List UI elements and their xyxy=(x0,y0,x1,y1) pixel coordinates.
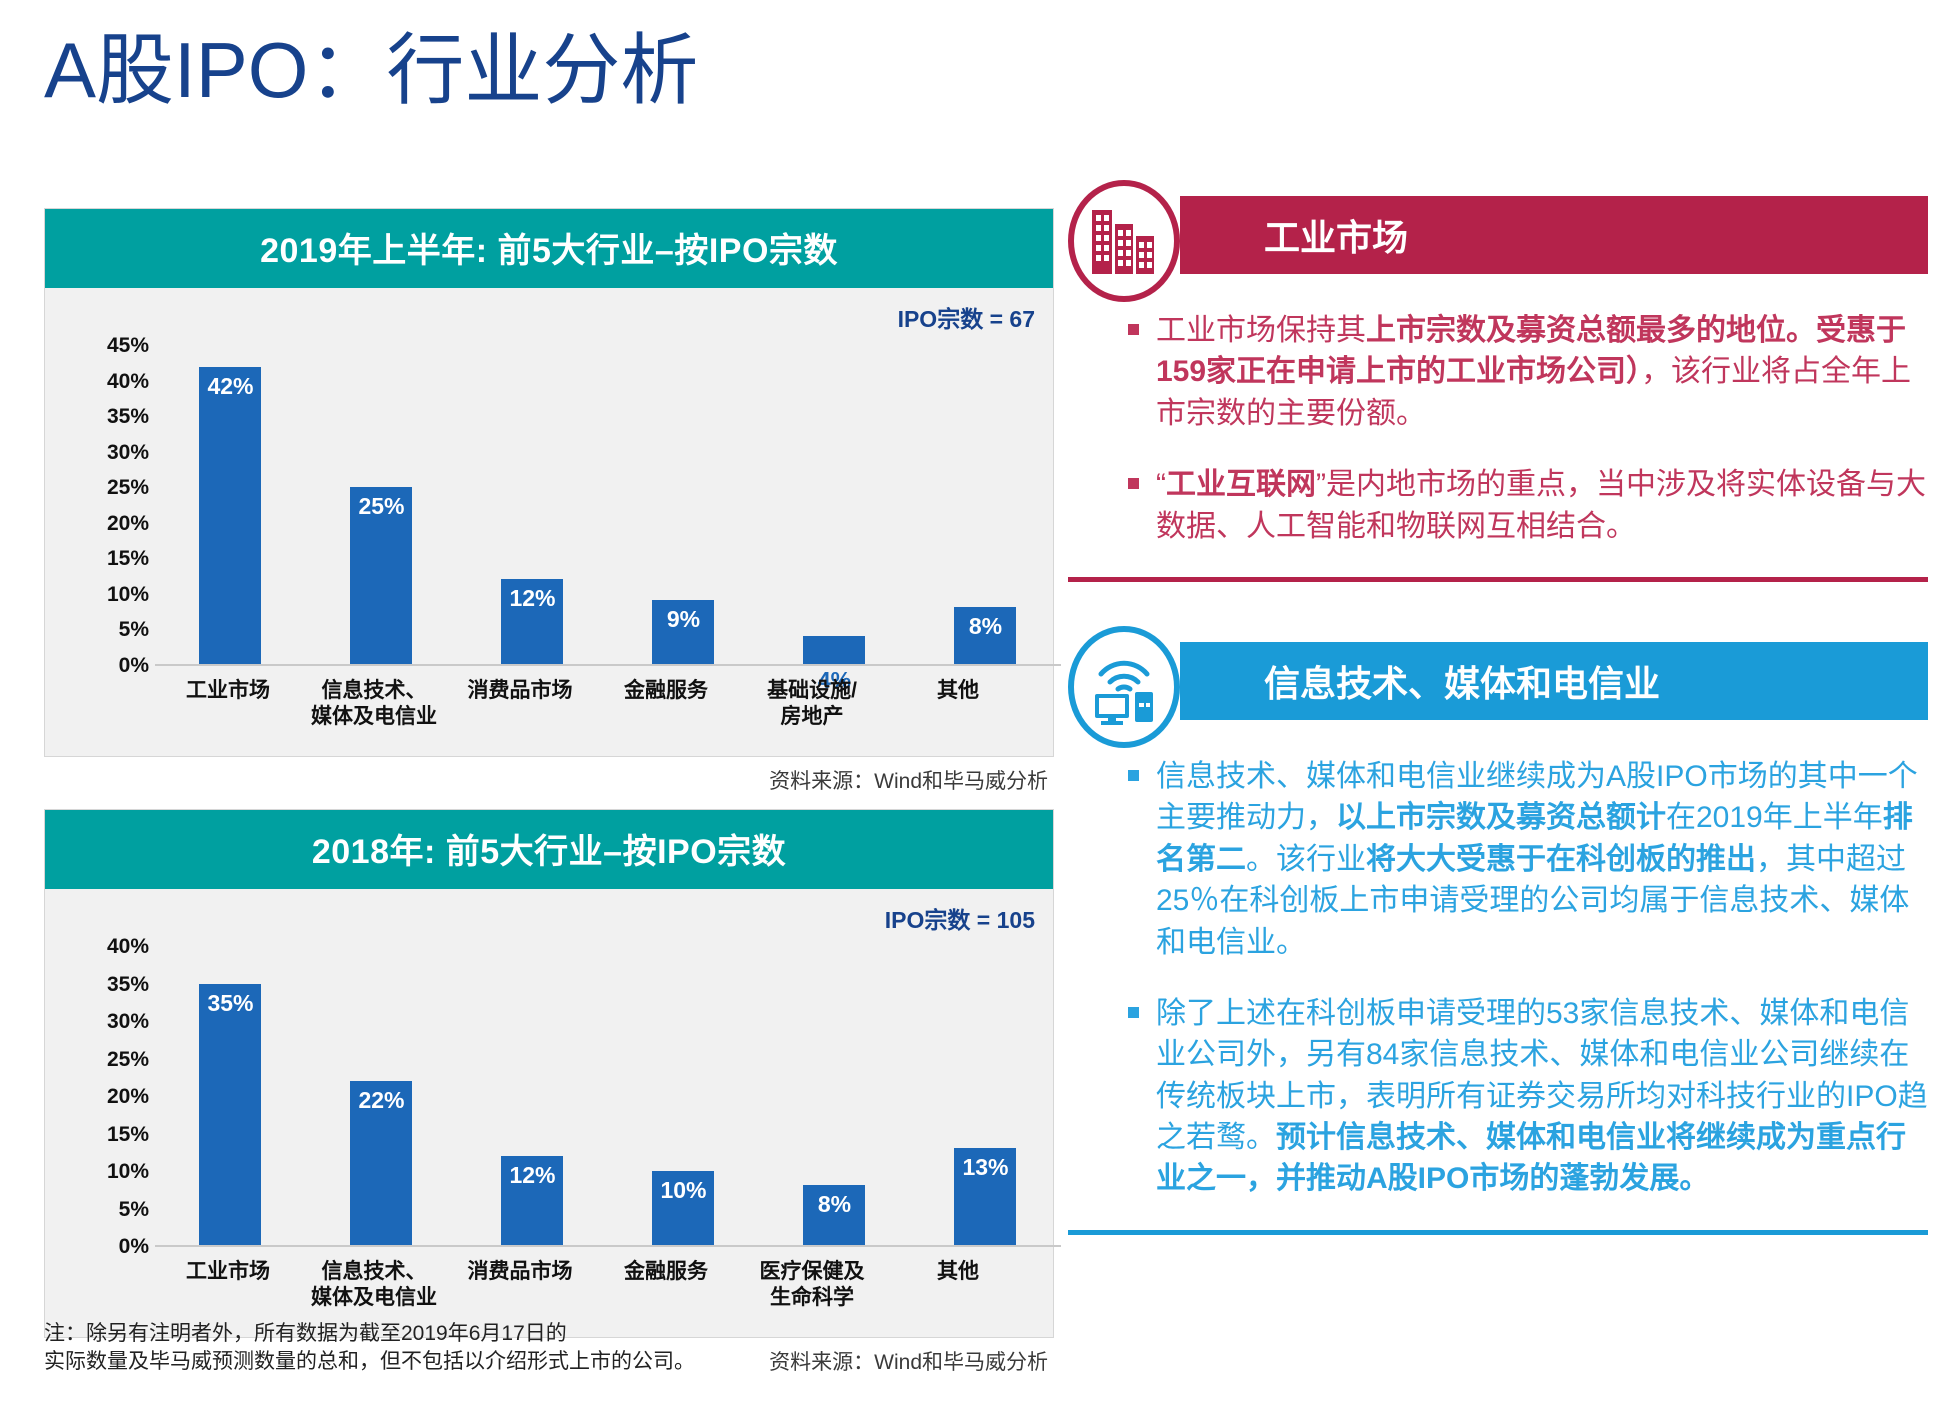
bar[interactable]: 9% xyxy=(652,600,714,664)
panel-divider-industrial xyxy=(1068,577,1928,582)
charts-column: 2019年上半年: 前5大行业–按IPO宗数 IPO宗数 = 67 45%40%… xyxy=(44,208,1054,1376)
bar-slot: 8% xyxy=(759,947,909,1245)
panel-industrial-market: 工业市场 xyxy=(1068,180,1928,582)
slide-root: A股IPO：行业分析 2019年上半年: 前5大行业–按IPO宗数 IPO宗数 … xyxy=(0,0,1958,1428)
plot-area-2019: 42%25%12%9%4%8% xyxy=(155,346,1061,666)
y-tick-label: 35% xyxy=(107,973,149,997)
x-tick-label: 信息技术、媒体及电信业 xyxy=(301,1259,446,1312)
page-title: A股IPO：行业分析 xyxy=(44,8,698,120)
plot-area-2018: 35%22%12%10%8%13% xyxy=(155,947,1061,1247)
buildings-icon xyxy=(1068,180,1180,302)
x-tick-label: 基础设施/房地产 xyxy=(739,678,884,731)
bar-slot: 4% xyxy=(759,346,909,664)
x-tick-label: 金融服务 xyxy=(593,1259,738,1312)
bullet-marker-icon xyxy=(1128,1007,1139,1018)
computer-wifi-icon xyxy=(1068,626,1180,748)
y-tick-label: 5% xyxy=(119,1198,149,1222)
bullet-item: 工业市场保持其上市宗数及募资总额最多的地位。受惠于159家正在申请上市的工业市场… xyxy=(1068,310,1928,434)
y-tick-label: 30% xyxy=(107,1010,149,1034)
bullet-text: 信息技术、媒体和电信业继续成为A股IPO市场的其中一个主要推动力，以上市宗数及募… xyxy=(1156,760,1918,959)
bullet-marker-icon xyxy=(1128,770,1139,781)
bar[interactable]: 35% xyxy=(199,984,261,1245)
bar-slot: 10% xyxy=(608,947,758,1245)
bar-slot: 42% xyxy=(155,346,305,664)
y-tick-label: 0% xyxy=(119,1235,149,1259)
bullet-marker-icon xyxy=(1128,324,1139,335)
bar-slot: 12% xyxy=(457,346,607,664)
bar-value-label: 9% xyxy=(667,606,700,633)
y-tick-label: 20% xyxy=(107,1085,149,1109)
bar-value-label: 42% xyxy=(207,373,253,400)
x-axis-labels-2018: 工业市场信息技术、媒体及电信业消费品市场金融服务医疗保健及生命科学其他 xyxy=(155,1259,1031,1312)
bullet-list-industrial: 工业市场保持其上市宗数及募资总额最多的地位。受惠于159家正在申请上市的工业市场… xyxy=(1068,292,1928,547)
y-tick-label: 15% xyxy=(107,1123,149,1147)
bullet-text: 工业市场保持其上市宗数及募资总额最多的地位。受惠于159家正在申请上市的工业市场… xyxy=(1156,314,1911,430)
bullet-list-tmt: 信息技术、媒体和电信业继续成为A股IPO市场的其中一个主要推动力，以上市宗数及募… xyxy=(1068,738,1928,1200)
bar-value-label: 25% xyxy=(358,493,404,520)
bar[interactable]: 25% xyxy=(350,487,412,664)
y-tick-label: 25% xyxy=(107,476,149,500)
y-tick-label: 15% xyxy=(107,547,149,571)
x-tick-label: 工业市场 xyxy=(155,678,300,731)
y-tick-label: 20% xyxy=(107,512,149,536)
bullet-text: 除了上述在科创板申请受理的53家信息技术、媒体和电信业公司外，另有84家信息技术… xyxy=(1156,997,1928,1196)
bar-value-label: 8% xyxy=(969,613,1002,640)
x-tick-label: 其他 xyxy=(885,678,1030,731)
bar-value-label: 13% xyxy=(962,1154,1008,1181)
ipo-count-2019: IPO宗数 = 67 xyxy=(898,300,1035,334)
y-tick-label: 0% xyxy=(119,654,149,678)
bullet-text: “工业互联网”是内地市场的重点，当中涉及将实体设备与大数据、人工智能和物联网互相… xyxy=(1156,468,1926,542)
bar-slot: 9% xyxy=(608,346,758,664)
chart-card-2019: 2019年上半年: 前5大行业–按IPO宗数 IPO宗数 = 67 45%40%… xyxy=(44,208,1054,757)
y-tick-label: 45% xyxy=(107,334,149,358)
chart-plot-2018: IPO宗数 = 105 40%35%30%25%20%15%10%5%0% 35… xyxy=(45,889,1053,1337)
y-axis-2018: 40%35%30%25%20%15%10%5%0% xyxy=(63,947,155,1247)
bar-slot: 13% xyxy=(910,947,1060,1245)
bar[interactable]: 8% xyxy=(803,1185,865,1245)
bar-value-label: 12% xyxy=(509,585,555,612)
bar-series-2019: 42%25%12%9%4%8% xyxy=(155,346,1061,664)
y-tick-label: 35% xyxy=(107,405,149,429)
bar[interactable]: 42% xyxy=(199,367,261,664)
footnote: 注：除另有注明者外，所有数据为截至2019年6月17日的实际数量及毕马威预测数量… xyxy=(44,1320,695,1377)
x-tick-label: 工业市场 xyxy=(155,1259,300,1312)
source-note-2019: 资料来源：Wind和毕马威分析 xyxy=(44,765,1054,795)
bar-value-label: 10% xyxy=(660,1177,706,1204)
panel-title-bar-industrial: 工业市场 xyxy=(1180,196,1928,274)
bullet-item: 除了上述在科创板申请受理的53家信息技术、媒体和电信业公司外，另有84家信息技术… xyxy=(1068,993,1928,1200)
y-axis-2019: 45%40%35%30%25%20%15%10%5%0% xyxy=(63,346,155,666)
bullet-item: 信息技术、媒体和电信业继续成为A股IPO市场的其中一个主要推动力，以上市宗数及募… xyxy=(1068,756,1928,963)
bar-slot: 35% xyxy=(155,947,305,1245)
panel-title-industrial: 工业市场 xyxy=(1180,209,1408,261)
bar-value-label: 8% xyxy=(818,1191,851,1218)
panel-tmt: 信息技术、媒体和电信业 xyxy=(1068,626,1928,1235)
bullet-marker-icon xyxy=(1128,478,1139,489)
panel-title-tmt: 信息技术、媒体和电信业 xyxy=(1180,655,1660,707)
x-tick-label: 医疗保健及生命科学 xyxy=(739,1259,884,1312)
panel-header-tmt: 信息技术、媒体和电信业 xyxy=(1068,626,1928,738)
x-tick-label: 消费品市场 xyxy=(447,678,592,731)
y-tick-label: 40% xyxy=(107,935,149,959)
bar[interactable]: 12% xyxy=(501,579,563,664)
bar-value-label: 22% xyxy=(358,1087,404,1114)
bar-value-label: 12% xyxy=(509,1162,555,1189)
x-tick-label: 消费品市场 xyxy=(447,1259,592,1312)
y-tick-label: 30% xyxy=(107,441,149,465)
bullet-item: “工业互联网”是内地市场的重点，当中涉及将实体设备与大数据、人工智能和物联网互相… xyxy=(1068,464,1928,547)
y-tick-label: 25% xyxy=(107,1048,149,1072)
bar-value-label: 35% xyxy=(207,990,253,1017)
ipo-count-2018: IPO宗数 = 105 xyxy=(885,901,1035,935)
bar[interactable]: 8% xyxy=(954,607,1016,664)
bar-slot: 25% xyxy=(306,346,456,664)
bar-slot: 8% xyxy=(910,346,1060,664)
bar-series-2018: 35%22%12%10%8%13% xyxy=(155,947,1061,1245)
footnote-line: 注：除另有注明者外，所有数据为截至2019年6月17日的 xyxy=(44,1320,695,1348)
bar[interactable]: 22% xyxy=(350,1081,412,1245)
bar[interactable]: 4% xyxy=(803,636,865,664)
chart-title-2019: 2019年上半年: 前5大行业–按IPO宗数 xyxy=(45,209,1053,288)
y-tick-label: 40% xyxy=(107,370,149,394)
y-tick-label: 10% xyxy=(107,1160,149,1184)
x-axis-labels-2019: 工业市场信息技术、媒体及电信业消费品市场金融服务基础设施/房地产其他 xyxy=(155,678,1031,731)
panel-header-industrial: 工业市场 xyxy=(1068,180,1928,292)
insights-column: 工业市场 xyxy=(1068,180,1928,1253)
panel-title-bar-tmt: 信息技术、媒体和电信业 xyxy=(1180,642,1928,720)
bar[interactable]: 13% xyxy=(954,1148,1016,1245)
bar-slot: 12% xyxy=(457,947,607,1245)
footnote-line: 实际数量及毕马威预测数量的总和，但不包括以介绍形式上市的公司。 xyxy=(44,1348,695,1376)
y-tick-label: 10% xyxy=(107,583,149,607)
panel-divider-tmt xyxy=(1068,1230,1928,1235)
x-tick-label: 信息技术、媒体及电信业 xyxy=(301,678,446,731)
bar-slot: 22% xyxy=(306,947,456,1245)
x-tick-label: 其他 xyxy=(885,1259,1030,1312)
chart-title-2018: 2018年: 前5大行业–按IPO宗数 xyxy=(45,810,1053,889)
bar[interactable]: 10% xyxy=(652,1171,714,1246)
chart-card-2018: 2018年: 前5大行业–按IPO宗数 IPO宗数 = 105 40%35%30… xyxy=(44,809,1054,1338)
bar[interactable]: 12% xyxy=(501,1156,563,1245)
x-tick-label: 金融服务 xyxy=(593,678,738,731)
chart-plot-2019: IPO宗数 = 67 45%40%35%30%25%20%15%10%5%0% … xyxy=(45,288,1053,756)
y-tick-label: 5% xyxy=(119,618,149,642)
